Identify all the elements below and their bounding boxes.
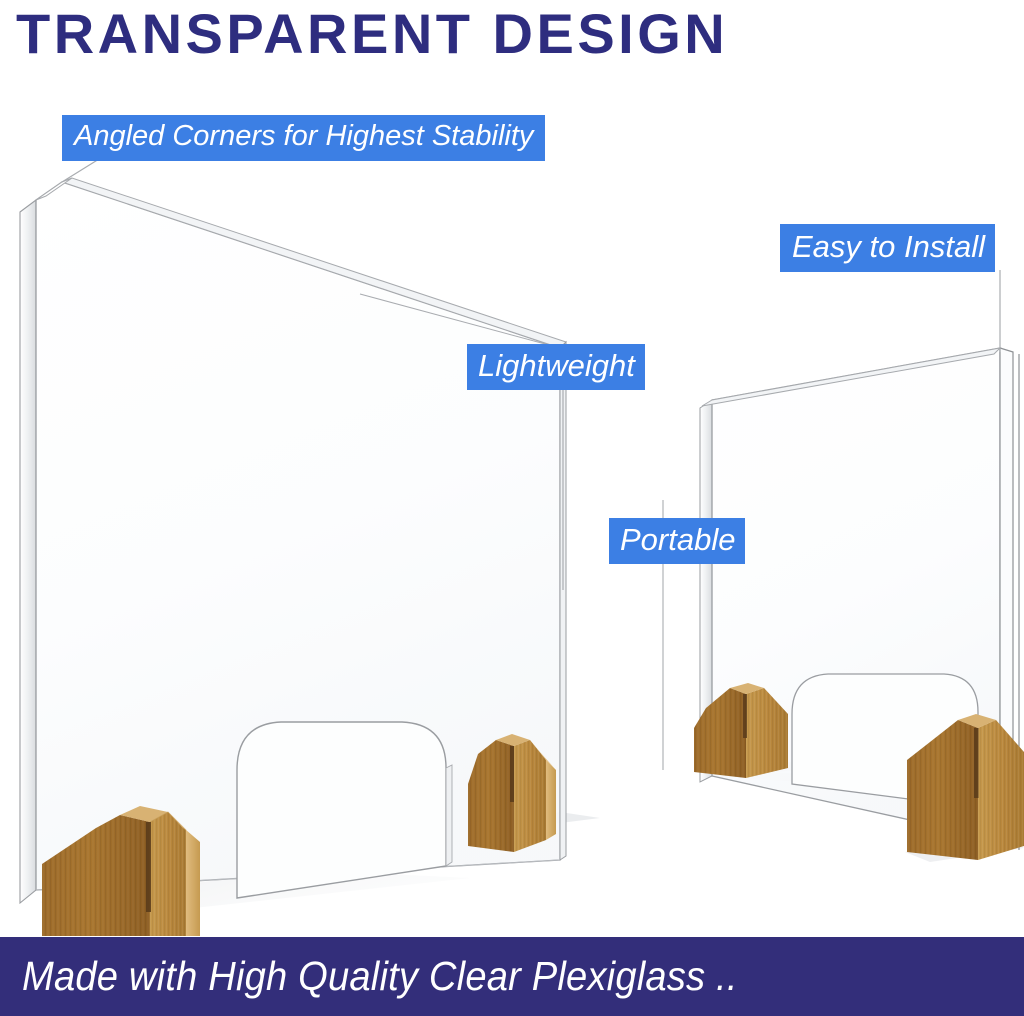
badge-portable-label: Portable — [620, 522, 735, 557]
badge-lightweight-label: Lightweight — [478, 348, 635, 383]
wood-foot-4-slot — [974, 728, 979, 798]
wood-foot-1-slot — [146, 822, 151, 912]
product-infographic: TRANSPARENT DESIGN — [0, 0, 1024, 1016]
badge-lightweight: Lightweight — [467, 344, 645, 390]
low-panel-left-face — [237, 722, 446, 898]
left-panel-thickness — [20, 200, 36, 903]
badge-easy-to-install: Easy to Install — [780, 224, 995, 272]
footer-banner: Made with High Quality Clear Plexiglass … — [0, 937, 1024, 1016]
badge-portable: Portable — [609, 518, 745, 564]
badge-angled-corners-label: Angled Corners for Highest Stability — [74, 120, 533, 152]
wood-foot-3-slot — [743, 694, 747, 738]
product-illustration — [0, 70, 1024, 936]
footer-banner-text: Made with High Quality Clear Plexiglass … — [22, 953, 738, 1000]
badge-easy-to-install-label: Easy to Install — [792, 229, 985, 264]
acrylic-panels-scene — [0, 70, 1024, 936]
low-panel-left — [237, 722, 452, 898]
wood-foot-2-slot — [510, 746, 514, 802]
badge-angled-corners: Angled Corners for Highest Stability — [62, 115, 545, 161]
page-title: TRANSPARENT DESIGN — [16, 2, 916, 68]
